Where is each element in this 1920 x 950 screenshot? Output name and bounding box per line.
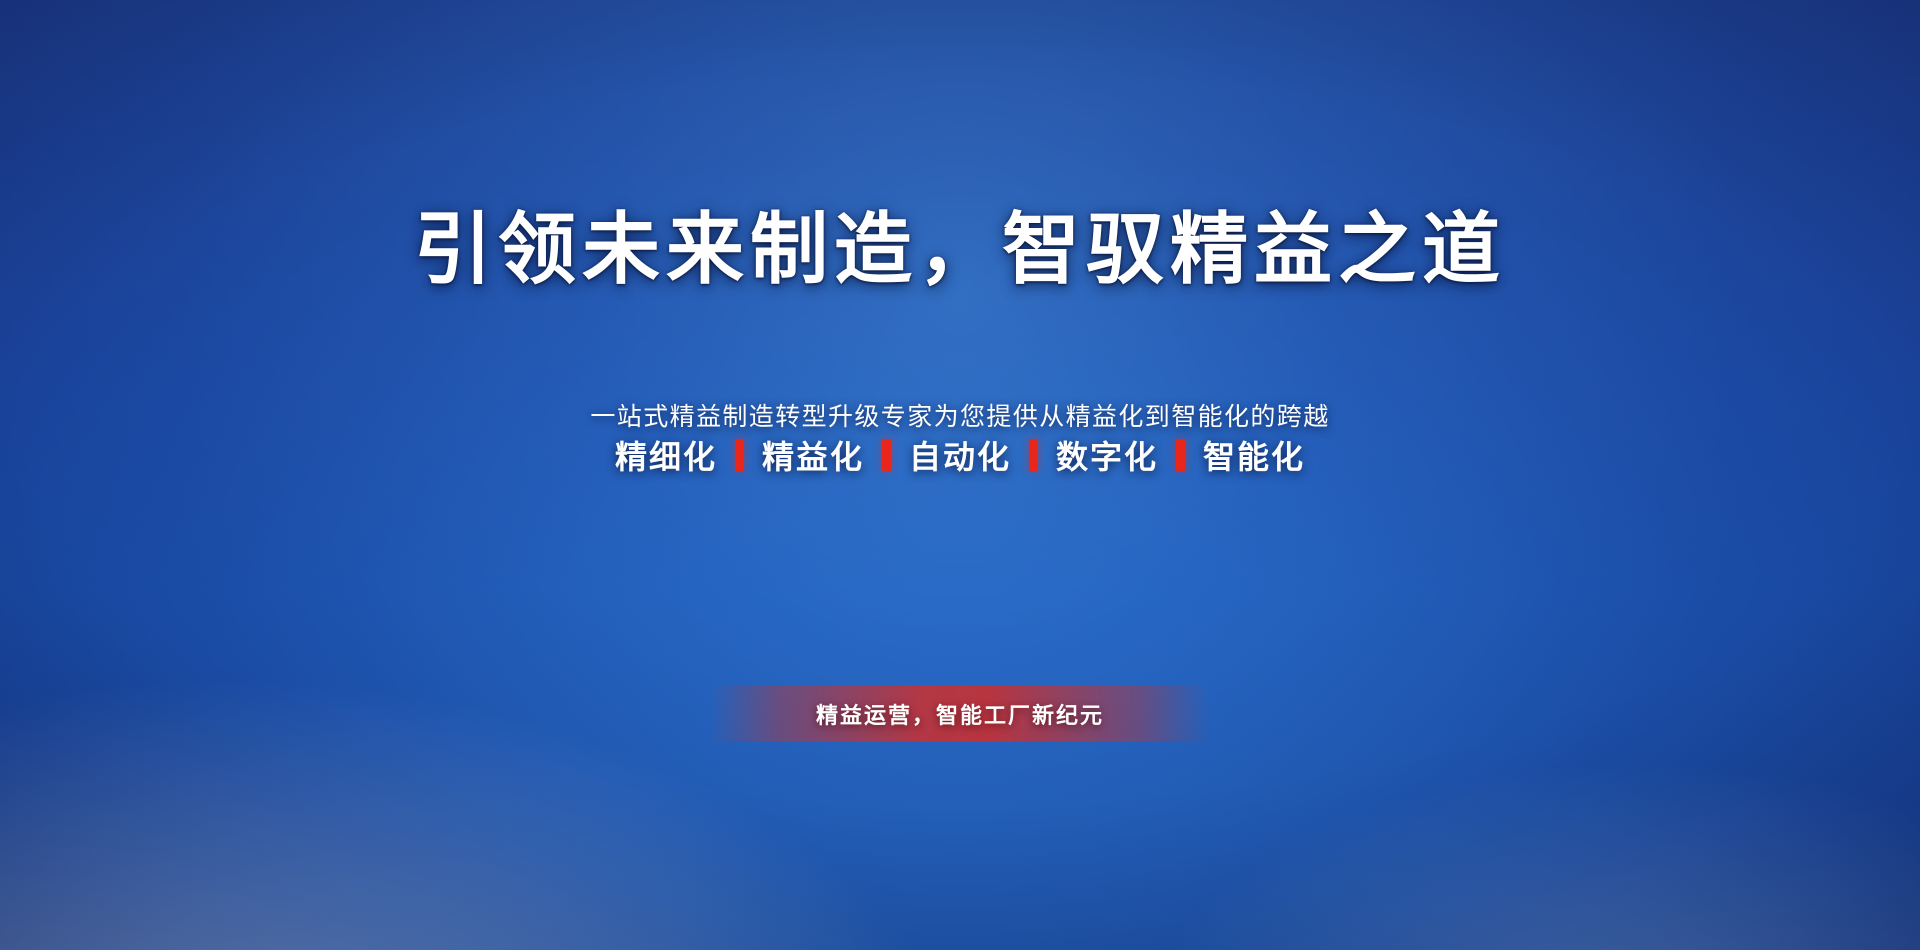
keyword-separator-icon (1029, 439, 1038, 471)
page-subtitle: 一站式精益制造转型升级专家为您提供从精益化到智能化的跨越 (0, 397, 1920, 433)
keyword-item-5: 智能化 (1203, 432, 1305, 478)
keyword-separator-icon (1176, 439, 1185, 471)
keyword-item-3: 自动化 (909, 432, 1011, 478)
tagline-badge: 精益运营，智能工厂新纪元 (710, 686, 1210, 742)
banner-content: 引领未来制造，智驭精益之道 一站式精益制造转型升级专家为您提供从精益化到智能化的… (0, 0, 1920, 950)
keyword-item-1: 精细化 (615, 432, 717, 478)
keyword-separator-icon (735, 439, 744, 471)
tagline-badge-text: 精益运营，智能工厂新纪元 (816, 698, 1104, 730)
keyword-list: 精细化 精益化 自动化 数字化 智能化 (0, 432, 1920, 478)
keyword-item-4: 数字化 (1056, 432, 1158, 478)
keyword-separator-icon (882, 439, 891, 471)
keyword-item-2: 精益化 (762, 432, 864, 478)
hero-banner: ENTERPRISE COURSE SUPPORT YOUR SERVICE 创… (0, 0, 1920, 950)
page-title: 引领未来制造，智驭精益之道 (0, 210, 1920, 288)
